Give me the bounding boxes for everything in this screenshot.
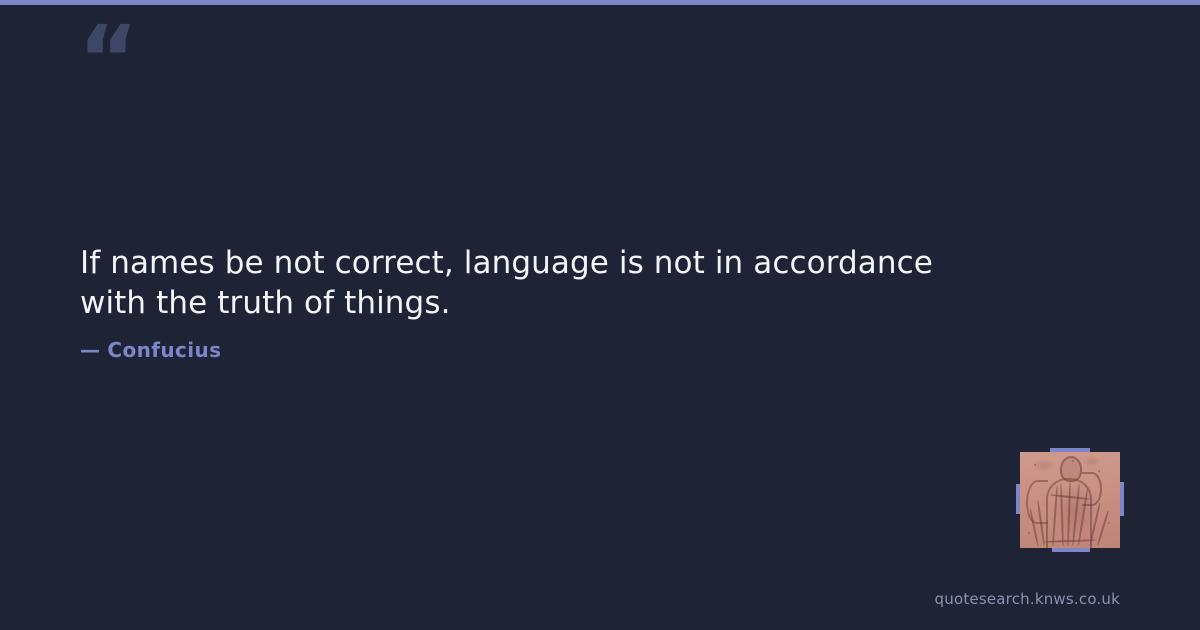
- resize-handle-bottom[interactable]: [1052, 548, 1090, 552]
- texture-speck: [1098, 470, 1100, 472]
- attribution: —Confucius: [80, 338, 221, 362]
- resize-handle-right[interactable]: [1120, 482, 1124, 516]
- site-watermark: quotesearch.knws.co.uk: [935, 590, 1120, 608]
- resize-handle-left[interactable]: [1016, 484, 1020, 514]
- attribution-author: Confucius: [107, 338, 221, 362]
- quote-text: If names be not correct, language is not…: [80, 243, 980, 323]
- opening-quote-icon: “: [78, 14, 136, 106]
- texture-speck: [1034, 464, 1036, 466]
- top-accent-bar: [0, 0, 1200, 5]
- texture-speck: [1028, 532, 1030, 534]
- resize-handle-top[interactable]: [1050, 448, 1090, 452]
- quote-block: If names be not correct, language is not…: [80, 243, 980, 323]
- thumbnail-selection[interactable]: [1020, 452, 1120, 548]
- confucius-illustration-image[interactable]: [1020, 452, 1120, 548]
- drape-line: [1097, 510, 1109, 545]
- texture-speck: [1108, 522, 1110, 524]
- attribution-dash: —: [80, 338, 100, 362]
- texture-speck: [1072, 460, 1074, 462]
